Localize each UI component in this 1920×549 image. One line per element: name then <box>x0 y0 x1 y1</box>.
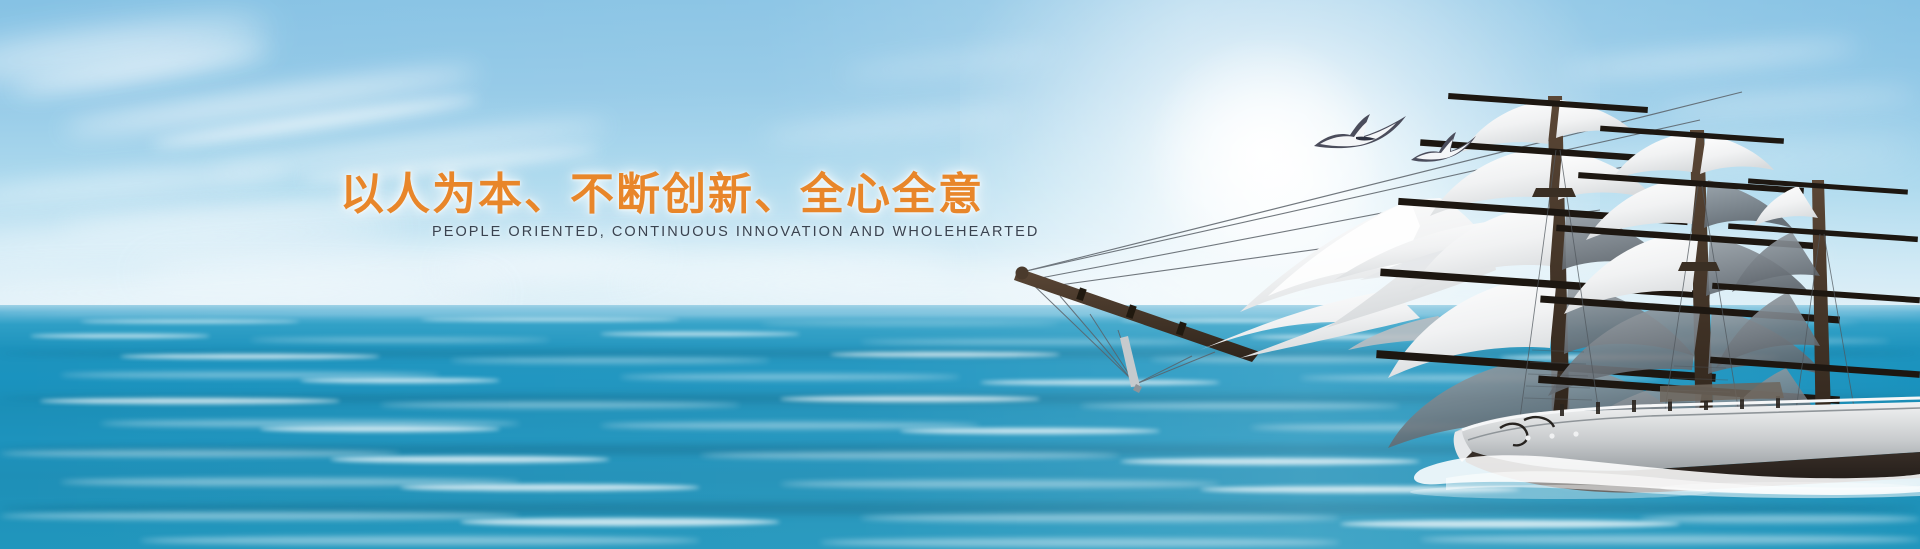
hero-banner: 以人为本、不断创新、全心全意 PEOPLE ORIENTED, CONTINUO… <box>0 0 1920 549</box>
seagull-large-icon <box>1310 108 1415 170</box>
banner-headline: 以人为本、不断创新、全心全意 <box>340 158 984 222</box>
banner-subtitle: PEOPLE ORIENTED, CONTINUOUS INNOVATION A… <box>432 224 1039 240</box>
bowsprit <box>1014 267 1260 394</box>
tall-ship-illustration <box>0 0 1920 549</box>
seagull-small-icon <box>1408 128 1480 174</box>
